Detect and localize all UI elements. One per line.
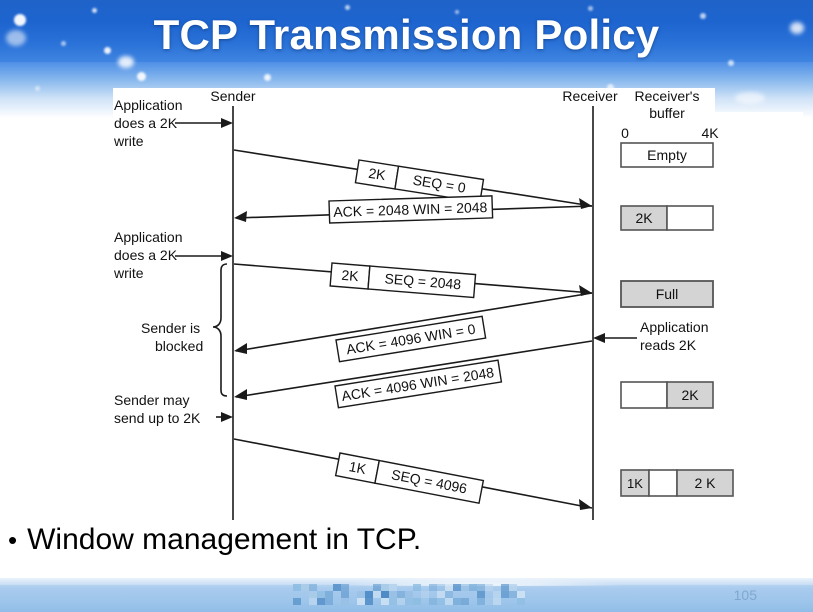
buffer-2k-right: 2K (621, 382, 713, 408)
redacted-pixel (501, 584, 509, 591)
redacted-pixel (309, 598, 317, 605)
redacted-pixel (413, 584, 421, 591)
message-cell-text: ACK = 4096 WIN = 0 (345, 321, 477, 358)
annotation-line: reads 2K (640, 337, 697, 353)
redacted-pixel (325, 591, 333, 598)
redacted-pixel (429, 598, 437, 605)
redacted-pixel (381, 591, 389, 598)
redacted-pixel (453, 598, 461, 605)
redacted-pixel (373, 591, 381, 598)
buffer-segment-label: 2K (635, 210, 653, 226)
redacted-pixel (477, 591, 485, 598)
redacted-pixel (509, 584, 517, 591)
buffer-segment (649, 470, 677, 496)
redacted-pixel (309, 591, 317, 598)
bullet-line: • Window management in TCP. (8, 518, 708, 562)
bullet-text: Window management in TCP. (27, 521, 421, 559)
redacted-pixel (517, 598, 525, 605)
redacted-pixel (445, 591, 453, 598)
buffer-segment-label: Empty (647, 147, 687, 163)
annotation-line: Application (640, 319, 709, 335)
arrowhead-icon (221, 118, 233, 128)
message-label-3: 2K SEQ = 2048 (330, 263, 475, 297)
annotation-line: does a 2K (114, 115, 178, 131)
buffer-segment-label: 1K (627, 476, 643, 491)
annotation-app-write-1: Application does a 2K write (113, 97, 233, 149)
message-cell-text: 2K (341, 267, 360, 284)
arrowhead-to-sender-1 (234, 211, 247, 222)
arrowhead-to-receiver-2 (579, 285, 592, 296)
annotation-line: write (113, 133, 144, 149)
redacted-pixel (509, 591, 517, 598)
redacted-pixel (461, 598, 469, 605)
annotation-app-write-2: Application does a 2K write (113, 229, 233, 281)
receiver-label: Receiver (562, 88, 618, 104)
redacted-pixel (437, 591, 445, 598)
receiver-buffer-title-line1: Receiver's (635, 88, 700, 104)
annotation-line: Sender is (141, 320, 200, 336)
slide-title: TCP Transmission Policy (0, 8, 813, 62)
bullet-marker-icon: • (8, 521, 17, 559)
redacted-pixel (429, 584, 437, 591)
redacted-pixel (461, 584, 469, 591)
arrowhead-to-receiver-1 (579, 198, 592, 209)
buffer-scale-left: 0 (621, 125, 629, 141)
redacted-pixel (493, 598, 501, 605)
annotation-line: write (113, 265, 144, 281)
buffer-empty: Empty (621, 143, 713, 167)
redacted-pixel (341, 584, 349, 591)
redacted-pixel (445, 598, 453, 605)
redacted-pixel (413, 598, 421, 605)
redacted-pixel (405, 598, 413, 605)
buffer-segment (621, 382, 667, 408)
redacted-pixel (389, 598, 397, 605)
message-label-2: ACK = 2048 WIN = 2048 (329, 196, 493, 223)
redacted-pixel (397, 591, 405, 598)
redacted-pixel (477, 598, 485, 605)
message-label-5: ACK = 4096 WIN = 2048 (335, 360, 501, 408)
buffer-scale-right: 4K (701, 125, 719, 141)
annotation-line: Sender may (114, 392, 189, 408)
redacted-pixel (437, 584, 445, 591)
redacted-pixel (421, 591, 429, 598)
redacted-pixel (317, 591, 325, 598)
redacted-pixel (493, 591, 501, 598)
redacted-pixel (341, 591, 349, 598)
sender-label: Sender (210, 88, 255, 104)
redacted-pixel (389, 584, 397, 591)
slide-canvas: TCP Transmission Policy (0, 0, 813, 612)
redacted-pixel (477, 584, 485, 591)
redacted-pixel (309, 584, 317, 591)
annotation-app-reads: Application reads 2K (593, 319, 709, 353)
redacted-pixel (437, 598, 445, 605)
redacted-pixel (301, 584, 309, 591)
annotation-sender-may-send: Sender may send up to 2K (114, 392, 233, 426)
arrowhead-icon (221, 412, 233, 422)
redacted-pixel (325, 598, 333, 605)
annotation-line: blocked (155, 338, 203, 354)
message-cell-text: 2K (367, 165, 387, 184)
page-number: 105 (734, 586, 757, 604)
redacted-pixel (517, 591, 525, 598)
redacted-pixel (333, 584, 341, 591)
redacted-pixel (373, 584, 381, 591)
redacted-pixel (397, 598, 405, 605)
redacted-pixel (453, 584, 461, 591)
arrowhead-to-sender-2 (234, 343, 247, 354)
redacted-pixel (381, 584, 389, 591)
message-label-1: 2K SEQ = 0 (355, 160, 483, 202)
redacted-pixel (365, 598, 373, 605)
redacted-pixel (445, 584, 453, 591)
redacted-pixel (357, 591, 365, 598)
redacted-pixel (389, 591, 397, 598)
redacted-pixel (469, 584, 477, 591)
receiver-buffer-title-line2: buffer (649, 105, 685, 121)
annotation-line: send up to 2K (114, 410, 201, 426)
annotation-sender-blocked: Sender is blocked (141, 264, 227, 396)
annotation-line: Application (114, 97, 183, 113)
redacted-pixel (501, 591, 509, 598)
buffer-1k-2k: 1K 2 K (621, 470, 733, 496)
redacted-pixel (341, 598, 349, 605)
redacted-pixel (485, 584, 493, 591)
curly-brace-icon (213, 264, 227, 396)
redacted-pixel (293, 584, 301, 591)
redacted-pixel (317, 598, 325, 605)
arrowhead-to-sender-3 (234, 389, 247, 400)
buffer-segment (667, 206, 713, 230)
buffer-segment-label: 2K (681, 387, 699, 403)
redacted-pixel (293, 598, 301, 605)
buffer-segment-label: 2 K (694, 475, 716, 491)
arrowhead-icon (593, 333, 605, 343)
footer-redacted-text (285, 584, 525, 606)
redacted-pixel (365, 591, 373, 598)
annotation-line: Application (114, 229, 183, 245)
annotation-line: does a 2K (114, 247, 178, 263)
buffer-full: Full (621, 281, 713, 307)
message-label-6: 1K SEQ = 4096 (336, 453, 484, 503)
redacted-pixel (381, 598, 389, 605)
redacted-pixel (357, 598, 365, 605)
buffer-segment-label: Full (656, 286, 679, 302)
redacted-pixel (405, 591, 413, 598)
buffer-2k-left: 2K (621, 206, 713, 230)
arrowhead-icon (221, 251, 233, 261)
tcp-window-diagram: Sender Receiver Receiver's buffer 0 4K A… (113, 88, 803, 524)
redacted-pixel (485, 598, 493, 605)
